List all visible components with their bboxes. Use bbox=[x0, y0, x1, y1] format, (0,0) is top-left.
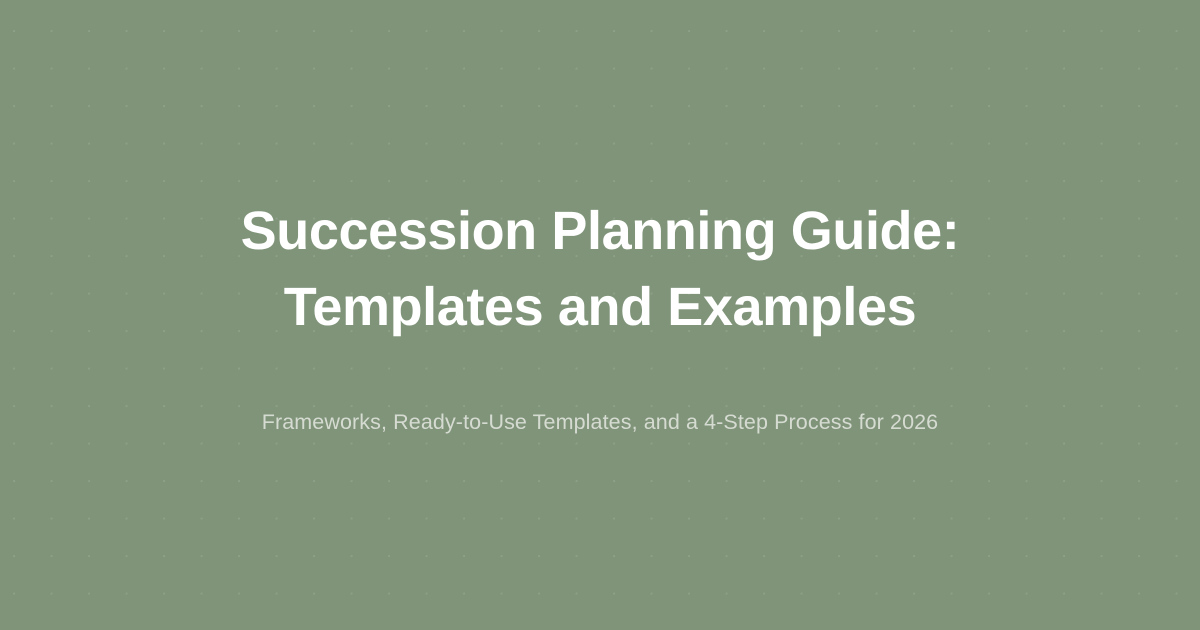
title-line-1: Succession Planning Guide: bbox=[80, 193, 1120, 269]
page-title: Succession Planning Guide: Templates and… bbox=[80, 193, 1120, 345]
title-line-2: Templates and Examples bbox=[80, 269, 1120, 345]
og-card: Succession Planning Guide: Templates and… bbox=[0, 0, 1200, 630]
page-subtitle: Frameworks, Ready-to-Use Templates, and … bbox=[262, 407, 939, 437]
card-content: Succession Planning Guide: Templates and… bbox=[0, 0, 1200, 630]
